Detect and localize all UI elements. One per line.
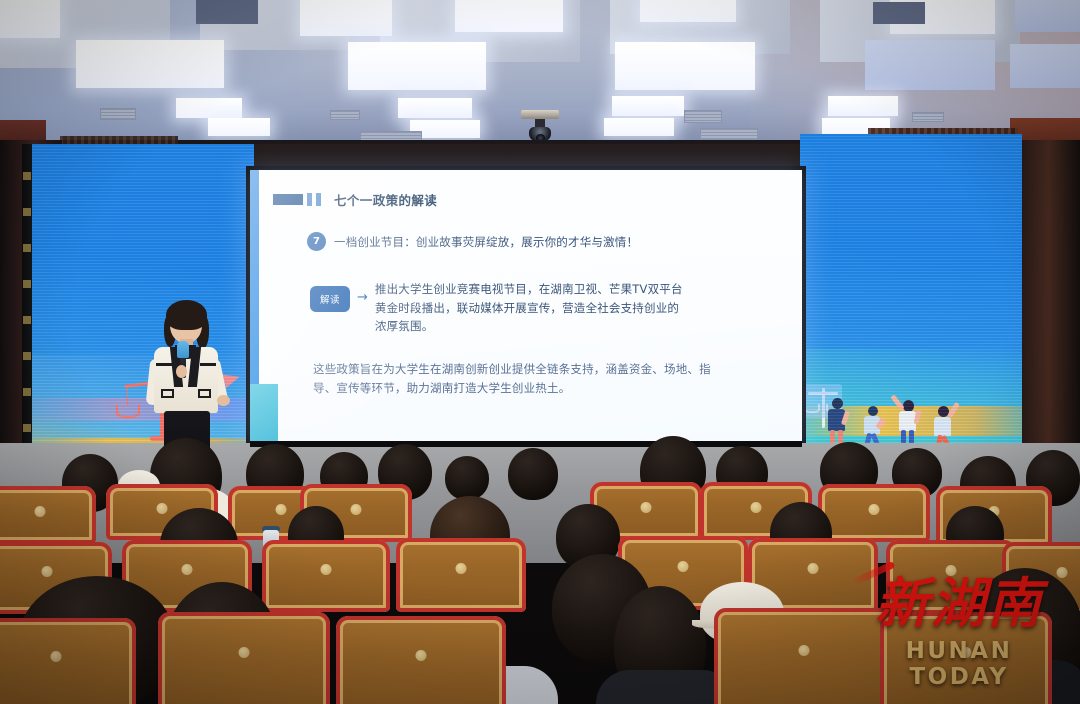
audience-head — [445, 456, 489, 500]
auditorium-seat — [0, 618, 136, 704]
ceiling-light-panel — [348, 42, 486, 90]
arrow-right-icon: → — [357, 290, 368, 305]
slide-explanation-block: 解读 → 推出大学生创业竞赛电视节目，在湖南卫视、芒果TV双平台黄金时段播出，联… — [310, 280, 685, 336]
presenter-jacket-trim — [200, 363, 216, 366]
item-headline-text: 一档创业节目：创业故事荧屏绽放，展示你的才华与激情！ — [334, 234, 638, 250]
ceiling-light-panel — [455, 0, 563, 32]
ceiling-light-panel — [612, 96, 684, 116]
ceiling-light-panel — [865, 40, 995, 90]
ceiling-air-vent — [912, 112, 944, 122]
ceiling-vent-panel — [873, 2, 925, 24]
slide-summary-text: 这些政策旨在为大学生在湖南创新创业提供全链条支持，涵盖资金、场地、指导、宣传等环… — [313, 360, 713, 397]
ceiling-light-panel — [604, 118, 674, 136]
ceiling-air-vent — [100, 108, 136, 120]
ceiling-light-panel — [1015, 0, 1080, 32]
ceiling-light-panel — [0, 0, 60, 38]
watermark: 新湖南 HUNAN TODAY — [854, 576, 1064, 690]
auditorium-seat — [818, 484, 930, 542]
ceiling-air-vent — [684, 110, 722, 123]
presenter-jacket-trim — [156, 363, 172, 366]
microphone-icon — [177, 341, 189, 358]
presenter-hair — [166, 300, 207, 330]
title-bar-light-icon — [316, 193, 321, 206]
auditorium-scene: 七个一政策的解读 7 一档创业节目：创业故事荧屏绽放，展示你的才华与激情！ 解读… — [0, 0, 1080, 704]
projection-screen: 七个一政策的解读 7 一档创业节目：创业故事荧屏绽放，展示你的才华与激情！ 解读… — [250, 170, 802, 444]
ceiling-light-panel — [1010, 44, 1080, 88]
title-bar-light-icon — [307, 193, 312, 206]
item-number-badge: 7 — [307, 232, 326, 251]
presentation-slide: 七个一政策的解读 7 一档创业节目：创业故事荧屏绽放，展示你的才华与激情！ 解读… — [250, 170, 802, 444]
ceiling-vent-panel — [196, 0, 258, 24]
explanation-badge: 解读 — [310, 286, 350, 312]
title-bar-dark-icon — [273, 194, 303, 205]
ceiling-light-panel — [76, 40, 224, 88]
ceiling-light-panel — [640, 0, 736, 22]
presenter-jacket-pocket — [198, 389, 211, 398]
ceiling-light-panel — [176, 98, 242, 118]
explanation-text: 推出大学生创业竞赛电视节目，在湖南卫视、芒果TV双平台黄金时段播出，联动媒体开展… — [375, 280, 685, 336]
watermark-chinese-logo: 新湖南 — [854, 576, 1064, 630]
left-led-side-edge — [22, 144, 32, 474]
presenter-hand — [217, 395, 230, 406]
left-led-mount-lugs — [23, 144, 31, 474]
auditorium-seat — [0, 486, 96, 544]
auditorium-seat — [396, 538, 526, 612]
ceiling-air-vent — [330, 110, 360, 120]
ceiling-light-panel — [615, 42, 755, 90]
ceiling-air-vent — [700, 128, 758, 140]
auditorium-seat — [262, 540, 390, 612]
ceiling-light-panel — [398, 98, 472, 118]
ceiling-light-panel — [828, 96, 898, 116]
presenter-hand — [176, 365, 187, 378]
ceiling-light-panel — [300, 0, 392, 36]
right-led-screen — [800, 134, 1022, 470]
ceiling-light-panel — [208, 118, 270, 136]
slide-title: 七个一政策的解读 — [334, 190, 437, 209]
camera-ceiling-mount — [521, 110, 559, 119]
watermark-english-label: HUNAN TODAY — [854, 638, 1064, 690]
slide-list-item: 7 一档创业节目：创业故事荧屏绽放，展示你的才华与激情！ — [307, 232, 638, 251]
auditorium-seat — [158, 612, 330, 704]
audience-head — [508, 448, 558, 500]
auditorium-seat — [336, 616, 506, 704]
presenter-jacket-pocket — [161, 389, 174, 398]
slide-title-row: 七个一政策的解读 — [273, 190, 437, 209]
